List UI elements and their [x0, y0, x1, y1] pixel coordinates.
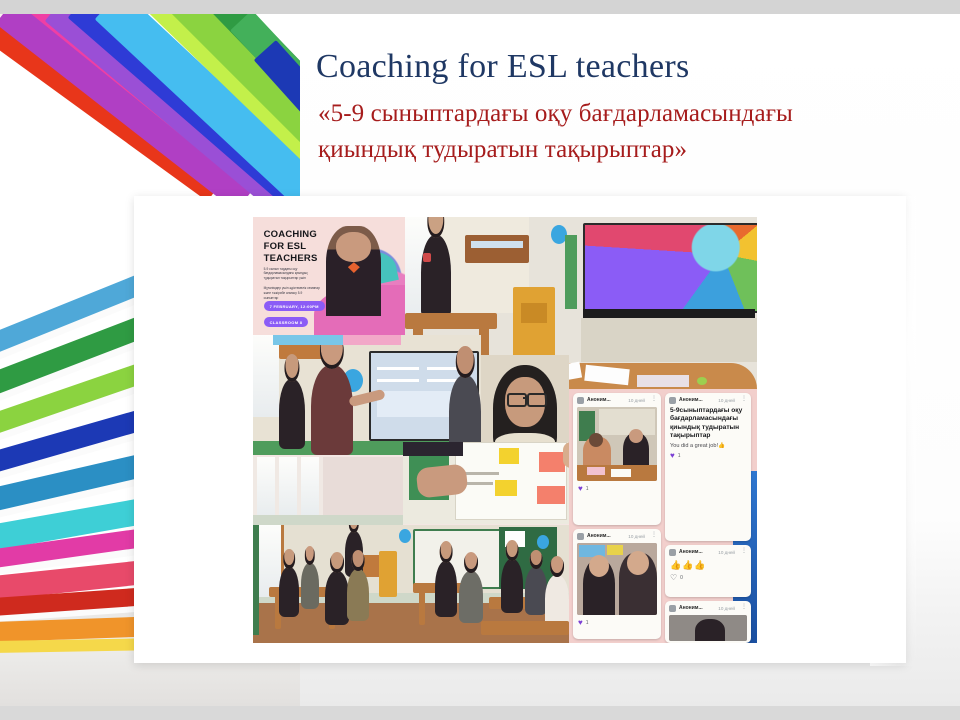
- slide-subtitle: «5-9 сыныптардағы оқу бағдарламасындағы …: [318, 96, 928, 169]
- card-header: Аноним... 10 дней ⋮: [573, 529, 661, 542]
- slide-bottom-band: [0, 706, 960, 720]
- photo-window-classroom: [253, 457, 403, 525]
- heart-icon[interactable]: ♥: [670, 452, 675, 460]
- card-header: Аноним... 10 дней ⋮: [665, 601, 751, 614]
- slide-top-band: [0, 0, 960, 14]
- more-options-icon[interactable]: ⋮: [741, 398, 747, 402]
- card-header: Аноним... 10 дней ⋮: [573, 393, 661, 406]
- card-note: You did a great job!👍: [665, 441, 751, 449]
- photo-sticky-notes-flipchart: [403, 442, 595, 524]
- event-photo-collage: COACHING FOR ESL TEACHERS 5-9 сынып тард…: [253, 217, 757, 643]
- avatar: [669, 397, 676, 404]
- like-count: 0: [680, 575, 683, 581]
- card-photo: [669, 615, 747, 641]
- more-options-icon[interactable]: ⋮: [741, 606, 747, 610]
- more-options-icon[interactable]: ⋮: [651, 398, 657, 402]
- photo-teacher-at-whiteboard: [253, 335, 481, 455]
- feedback-card[interactable]: Аноним... 10 дней ⋮ ♥ 1: [573, 529, 661, 639]
- like-row[interactable]: ♥ 1: [573, 616, 661, 631]
- card-author: Аноним...: [587, 533, 611, 539]
- like-row[interactable]: ♡ 0: [665, 571, 751, 586]
- avatar: [669, 549, 676, 556]
- feedback-card[interactable]: Аноним... 10 дней ⋮ 👍👍👍 ♡ 0: [665, 545, 751, 597]
- avatar: [577, 397, 584, 404]
- feedback-cards-column: Аноним... 10 дней ⋮ ♥: [569, 389, 757, 643]
- feedback-card[interactable]: Аноним... 10 дней ⋮ ♥: [573, 393, 661, 525]
- like-row[interactable]: ♥ 1: [665, 449, 751, 464]
- poster-title: COACHING FOR ESL TEACHERS: [264, 229, 337, 265]
- card-time: 10 дней: [718, 606, 735, 611]
- heart-outline-icon[interactable]: ♡: [670, 574, 677, 582]
- poster-body: 5-9 сынып тардағы оқу бағдарламасындағы …: [264, 267, 328, 301]
- card-time: 10 дней: [628, 398, 645, 403]
- card-author: Аноним...: [679, 549, 703, 555]
- like-count: 1: [678, 453, 681, 459]
- like-row[interactable]: ♥ 1: [573, 482, 661, 497]
- photo-coaching-poster: COACHING FOR ESL TEACHERS 5-9 сынып тард…: [253, 217, 405, 335]
- avatar: [669, 605, 676, 612]
- feedback-card[interactable]: Аноним... 10 дней ⋮: [665, 601, 751, 643]
- card-emoji: 👍👍👍: [665, 558, 751, 571]
- card-photo: [577, 407, 657, 481]
- card-photo: [577, 543, 657, 615]
- like-count: 1: [586, 620, 589, 626]
- poster-date-badge: 7 FEBRUARY, 12:00PM: [264, 301, 325, 311]
- more-options-icon[interactable]: ⋮: [741, 550, 747, 554]
- photo-classroom-group-work: [253, 525, 569, 643]
- photo-portrait-woman-glasses: [481, 355, 569, 455]
- presentation-slide: Coaching for ESL teachers «5-9 сыныптард…: [0, 0, 960, 720]
- more-options-icon[interactable]: ⋮: [651, 534, 657, 538]
- card-author: Аноним...: [679, 605, 703, 611]
- card-author: Аноним...: [679, 397, 703, 403]
- card-header: Аноним... 10 дней ⋮: [665, 393, 751, 406]
- slide-title: Coaching for ESL teachers: [316, 48, 916, 85]
- poster-room-badge: CLASSROOM 8: [264, 317, 309, 327]
- heart-icon[interactable]: ♥: [578, 619, 583, 627]
- heart-icon[interactable]: ♥: [578, 485, 583, 493]
- card-time: 10 дней: [628, 534, 645, 539]
- slide-subtitle-line-2: қиындық тудыратын тақырыптар»: [318, 132, 928, 168]
- card-author: Аноним...: [587, 397, 611, 403]
- card-time: 10 дней: [718, 398, 735, 403]
- card-sheen: [870, 196, 916, 666]
- card-time: 10 дней: [718, 550, 735, 555]
- like-count: 1: [586, 486, 589, 492]
- card-text: 5-9сыныптардағы оқу бағдарламасындағы қи…: [665, 406, 751, 441]
- avatar: [577, 533, 584, 540]
- slide-subtitle-line-1: «5-9 сыныптардағы оқу бағдарламасындағы: [318, 96, 928, 132]
- card-header: Аноним... 10 дней ⋮: [665, 545, 751, 558]
- feedback-card[interactable]: Аноним... 10 дней ⋮ 5-9сыныптардағы оқу …: [665, 393, 751, 541]
